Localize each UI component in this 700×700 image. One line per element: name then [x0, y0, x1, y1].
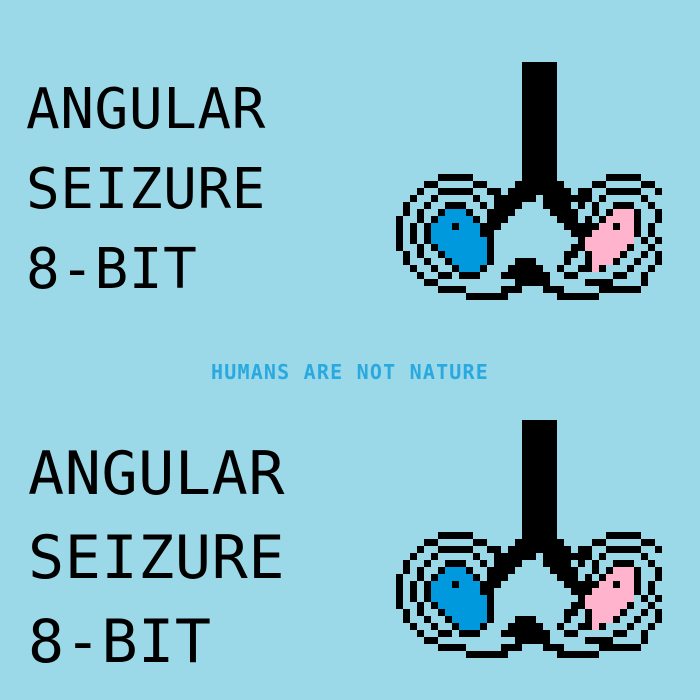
- pixel-lungs-icon-top: [396, 62, 662, 300]
- top-title-line-3: 8-BIT: [26, 242, 266, 298]
- top-band: ANGULAR SEIZURE 8-BIT: [0, 0, 700, 330]
- bottom-title-line-3: 8-BIT: [28, 612, 285, 672]
- bottom-title-block: ANGULAR SEIZURE 8-BIT: [28, 444, 285, 696]
- top-title-line-2: SEIZURE: [26, 162, 266, 218]
- tagline-text: HUMANS ARE NOT NATURE: [0, 360, 700, 384]
- bottom-title-line-2: SEIZURE: [28, 528, 285, 588]
- pixel-lungs-svg-top: [396, 62, 662, 300]
- pixel-lungs-svg-bottom: [396, 420, 662, 658]
- poster-canvas: ANGULAR SEIZURE 8-BIT HUMANS ARE NOT NAT…: [0, 0, 700, 700]
- top-title-block: ANGULAR SEIZURE 8-BIT: [26, 82, 266, 322]
- pixel-lungs-icon-bottom: [396, 420, 662, 658]
- bottom-title-line-1: ANGULAR: [28, 444, 285, 504]
- top-title-line-1: ANGULAR: [26, 82, 266, 138]
